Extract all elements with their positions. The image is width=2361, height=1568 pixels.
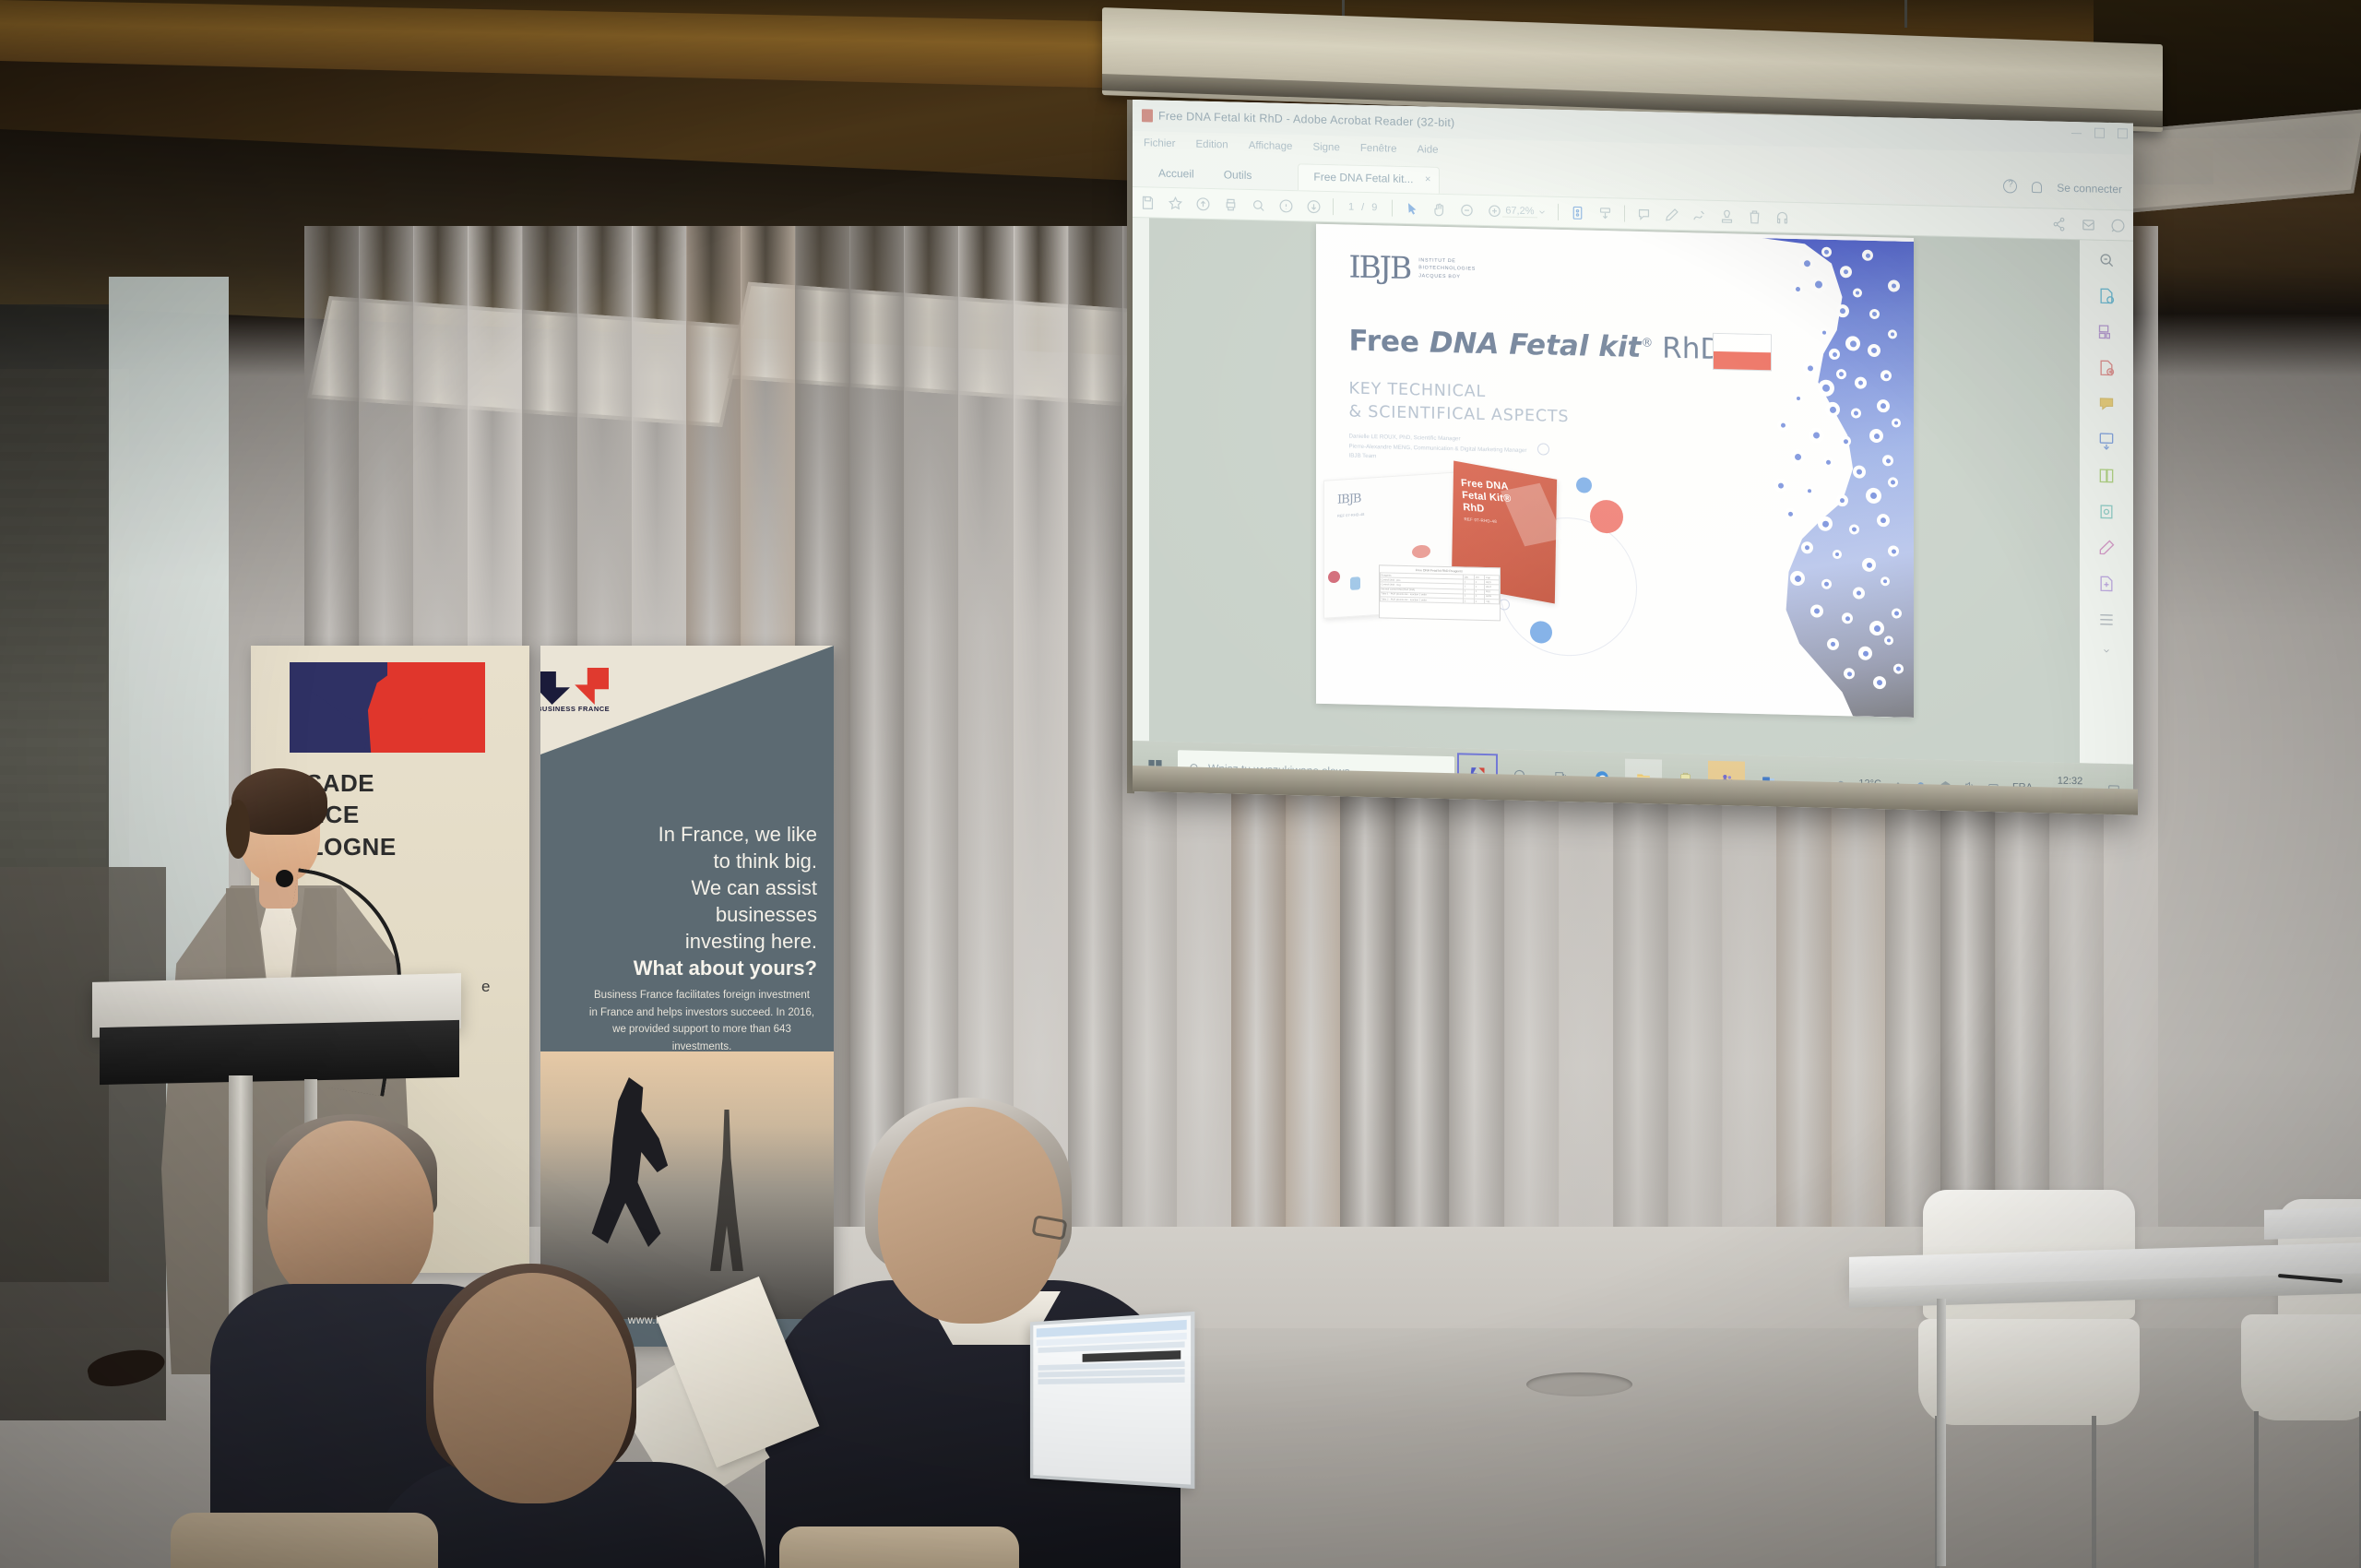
decor-ring bbox=[1537, 443, 1549, 455]
cell-bubble bbox=[1794, 394, 1803, 403]
cell-nucleus bbox=[1840, 308, 1845, 314]
cell-nucleus bbox=[1858, 381, 1863, 386]
business-france-logo bbox=[540, 668, 609, 705]
embassy-banner-small-text: e bbox=[481, 978, 490, 996]
decor-dot-red bbox=[1590, 500, 1623, 534]
body-line-2: in France and helps investors succeed. I… bbox=[587, 1004, 817, 1022]
marianne-logo bbox=[290, 662, 485, 753]
cell-nucleus bbox=[1872, 312, 1877, 316]
logo-arrow-red bbox=[572, 668, 609, 705]
ibjb-logo-mark: IBJB bbox=[1349, 249, 1411, 287]
create-pdf-icon[interactable] bbox=[2097, 358, 2116, 378]
document-viewport: IBJB INSTITUT DE BIOTECHNOLOGIES JACQUES… bbox=[1133, 218, 2133, 765]
cell-nucleus bbox=[1822, 521, 1829, 528]
podium-front-panel bbox=[100, 1020, 459, 1085]
product-box-blue-mark bbox=[1350, 576, 1360, 590]
page-current[interactable]: 1 bbox=[1348, 202, 1354, 213]
cell-bubble bbox=[1790, 449, 1805, 464]
more-tools-icon[interactable] bbox=[2097, 610, 2116, 630]
slide-authors: Danielle LE ROUX, PhD, Scientific Manage… bbox=[1349, 433, 1527, 466]
cell-vol: x bbox=[1474, 599, 1484, 603]
cell-bubble bbox=[1840, 435, 1851, 446]
tab-document[interactable]: Free DNA Fetal kit... × bbox=[1298, 163, 1440, 194]
ibjb-logo-subtitle: INSTITUT DE BIOTECHNOLOGIES JACQUES BOY bbox=[1418, 256, 1476, 280]
zoom-out-icon[interactable] bbox=[1459, 202, 1475, 218]
cell-bubble bbox=[1866, 488, 1881, 504]
cell-nucleus bbox=[1874, 434, 1880, 439]
comment-icon[interactable] bbox=[1636, 206, 1652, 221]
acrobat-reader-window: Free DNA Fetal kit RhD - Adobe Acrobat R… bbox=[1133, 100, 2133, 765]
comment-tool-icon[interactable] bbox=[2097, 394, 2116, 414]
scroll-mode-icon[interactable] bbox=[1597, 205, 1613, 220]
signin-link[interactable]: Se connecter bbox=[2057, 181, 2122, 196]
cell-nucleus bbox=[1845, 616, 1850, 621]
projection-screen: Free DNA Fetal kit RhD - Adobe Acrobat R… bbox=[1133, 100, 2133, 815]
registered-mark: ® bbox=[1641, 337, 1653, 350]
send-file-icon[interactable] bbox=[2081, 217, 2096, 232]
acrobat-app-icon bbox=[1142, 109, 1153, 122]
ibjb-sub-line-3: JACQUES BOY bbox=[1418, 272, 1476, 281]
page-fit-icon[interactable] bbox=[1570, 205, 1585, 220]
save-icon[interactable] bbox=[1140, 195, 1156, 210]
cell-bubble bbox=[1842, 612, 1853, 624]
cell-bubble bbox=[1840, 266, 1852, 278]
cell-bubble bbox=[1888, 477, 1898, 487]
page-scroll-area[interactable]: IBJB INSTITUT DE BIOTECHNOLOGIES JACQUES… bbox=[1149, 218, 2080, 763]
help-icon[interactable] bbox=[2003, 179, 2017, 193]
left-navigation-rail[interactable] bbox=[1133, 218, 1149, 741]
business-france-logo-text: BUSINESS FRANCE bbox=[540, 705, 610, 713]
cell-bubble bbox=[1869, 309, 1880, 319]
headline-bold-question: What about yours? bbox=[634, 956, 817, 980]
cell-nucleus bbox=[1886, 458, 1891, 463]
toolbar-annotate-group bbox=[1636, 206, 1790, 225]
cell-bubble bbox=[1836, 369, 1846, 379]
cell-nucleus bbox=[1857, 590, 1861, 595]
minimize-icon[interactable] bbox=[2071, 127, 2082, 134]
cell-bubble bbox=[1785, 508, 1796, 519]
cell-nucleus bbox=[1808, 489, 1811, 493]
cell-nucleus bbox=[1831, 642, 1835, 647]
acrobat-tools-rail bbox=[2080, 240, 2133, 764]
maximize-icon[interactable] bbox=[2094, 128, 2105, 138]
cell-bubble bbox=[1893, 663, 1904, 673]
toolbar-separator bbox=[1558, 204, 1559, 220]
cell-nucleus bbox=[1896, 667, 1901, 671]
menu-fenetre[interactable]: Fenêtre bbox=[1360, 143, 1397, 155]
slide-subtitle-line-2: & SCIENTIFICAL ASPECTS bbox=[1349, 401, 1570, 430]
cell-nucleus bbox=[1866, 254, 1870, 258]
cell-nucleus bbox=[1850, 340, 1857, 347]
cell-bubble bbox=[1809, 427, 1824, 443]
cell-qty: 1 bbox=[1463, 599, 1474, 603]
blind-slat bbox=[849, 226, 905, 1259]
highlight-icon[interactable] bbox=[1664, 207, 1679, 222]
select-tool-icon[interactable] bbox=[1404, 200, 1419, 216]
cell-nucleus bbox=[1894, 611, 1899, 615]
laptop-ui-row bbox=[1038, 1377, 1184, 1384]
cell-nucleus bbox=[1870, 493, 1877, 499]
reagents-table: Free DNA Fetal kit RhD Reagents Reagents… bbox=[1379, 564, 1501, 621]
reagents-table-grid: Reagents Qty Vol Cap Control DNA - pos bbox=[1380, 572, 1500, 604]
cell-nucleus bbox=[1857, 469, 1862, 474]
delete-icon[interactable] bbox=[1747, 208, 1762, 224]
cell-nucleus bbox=[1856, 291, 1859, 294]
page-total: 9 bbox=[1371, 202, 1377, 213]
cell-nucleus bbox=[1781, 423, 1786, 428]
upload-icon[interactable] bbox=[1195, 196, 1211, 211]
cell-bubble bbox=[1801, 541, 1813, 553]
cell-nucleus bbox=[1844, 439, 1848, 444]
cell-nucleus bbox=[1808, 365, 1813, 371]
silhouette-shape bbox=[1655, 235, 1914, 718]
cell-nucleus bbox=[1796, 287, 1800, 291]
menu-fichier[interactable]: Fichier bbox=[1144, 137, 1176, 149]
blind-slat bbox=[1014, 226, 1069, 1259]
add-comment-icon[interactable] bbox=[2110, 217, 2126, 232]
banner-headline: In France, we like to think big. We can … bbox=[596, 821, 817, 981]
product-box-red-dot bbox=[1328, 571, 1340, 584]
toolbar-separator bbox=[1333, 198, 1334, 215]
cell-bubble bbox=[1849, 524, 1859, 534]
cell-bubble bbox=[1829, 349, 1840, 360]
cell-bubble bbox=[1810, 276, 1827, 292]
chair-seat bbox=[2241, 1314, 2361, 1420]
cell-bubble bbox=[1888, 279, 1900, 291]
cell-bubble bbox=[1869, 621, 1884, 636]
cell-nucleus bbox=[1804, 260, 1810, 267]
export-pdf-icon[interactable] bbox=[2097, 286, 2116, 306]
microphone-head bbox=[276, 870, 293, 887]
protect-icon[interactable] bbox=[2097, 502, 2116, 522]
cell-nucleus bbox=[1826, 460, 1831, 465]
signature-icon[interactable] bbox=[1691, 208, 1707, 223]
cell-nucleus bbox=[1871, 348, 1877, 353]
stamp-icon[interactable] bbox=[1719, 208, 1735, 223]
cell-bubble bbox=[1845, 336, 1860, 350]
tab-accueil[interactable]: Accueil bbox=[1144, 160, 1209, 188]
door-frame bbox=[0, 867, 166, 1420]
cell-bubble bbox=[1882, 455, 1893, 466]
zoom-level[interactable]: 67,2% bbox=[1502, 205, 1536, 218]
cell-reagent: Tube 2 - PCR premix mix - reaction 2 ord… bbox=[1380, 597, 1463, 603]
menu-signe[interactable]: Signe bbox=[1312, 142, 1339, 154]
cell-bubble bbox=[1792, 283, 1803, 294]
cell-nucleus bbox=[1795, 576, 1801, 582]
cell-bubble bbox=[1853, 465, 1866, 478]
cell-nucleus bbox=[1884, 374, 1889, 378]
headline-line-3: We can assist businesses bbox=[596, 874, 817, 928]
product-box-pink-dot bbox=[1412, 544, 1430, 558]
attendee-1-head bbox=[267, 1121, 433, 1310]
page-separator: / bbox=[1361, 202, 1364, 213]
slide-title-italic: DNA Fetal kit bbox=[1430, 327, 1641, 364]
product-box-photo: IBJB REF 07-RHD-48 bbox=[1323, 464, 1554, 626]
cell-bubble bbox=[1799, 255, 1814, 270]
headline-line-1: In France, we like bbox=[596, 821, 817, 848]
cell-bubble bbox=[1862, 558, 1876, 572]
tab-outils[interactable]: Outils bbox=[1209, 162, 1267, 189]
print-icon[interactable] bbox=[1223, 196, 1239, 212]
product-box-small-text: REF 07-RHD-48 bbox=[1337, 512, 1364, 519]
decor-dot-blue bbox=[1576, 477, 1592, 493]
cell-nucleus bbox=[1891, 332, 1894, 336]
fill-and-sign-icon[interactable] bbox=[2097, 430, 2116, 450]
notifications-bell-icon[interactable] bbox=[2032, 181, 2042, 192]
cell-nucleus bbox=[1894, 421, 1898, 424]
star-icon[interactable] bbox=[1168, 195, 1183, 210]
cell-nucleus bbox=[1795, 454, 1801, 460]
organize-pages-icon[interactable] bbox=[2097, 322, 2116, 342]
share-icon[interactable] bbox=[2051, 216, 2067, 232]
cell-bubble bbox=[1892, 608, 1902, 618]
cell-nucleus bbox=[1797, 397, 1800, 400]
slide-content: IBJB INSTITUT DE BIOTECHNOLOGIES JACQUES… bbox=[1316, 224, 1914, 718]
business-france-banner: BUSINESS FRANCE In France, we like to th… bbox=[540, 646, 834, 1347]
cell-nucleus bbox=[1833, 352, 1837, 357]
cell-bubble bbox=[1855, 376, 1867, 388]
hand-tool-icon[interactable] bbox=[1431, 201, 1447, 217]
cell-nucleus bbox=[1892, 283, 1896, 288]
cell-nucleus bbox=[1813, 432, 1820, 438]
blind-slat bbox=[1068, 226, 1123, 1259]
slide-subtitle: KEY TECHNICAL & SCIENTIFICAL ASPECTS bbox=[1349, 378, 1570, 430]
wooden-chair-center bbox=[779, 1526, 1019, 1568]
headline-line-4: investing here. bbox=[596, 928, 817, 955]
cell-nucleus bbox=[1778, 482, 1784, 488]
menu-affichage[interactable]: Affichage bbox=[1249, 140, 1293, 152]
window-title: Free DNA Fetal kit RhD - Adobe Acrobat R… bbox=[1158, 110, 1454, 130]
body-line-1: Business France facilitates foreign inve… bbox=[587, 987, 817, 1004]
marianne-red-half bbox=[387, 662, 485, 753]
toolbar-file-group bbox=[1140, 195, 1322, 215]
cell-bubble bbox=[1821, 579, 1832, 589]
toolbar-view-group bbox=[1570, 205, 1613, 221]
cell-bubble bbox=[1892, 418, 1901, 427]
cell-nucleus bbox=[1892, 549, 1896, 553]
cell-nucleus bbox=[1867, 563, 1872, 568]
cell-bubble bbox=[1853, 288, 1862, 297]
edit-pdf-icon[interactable] bbox=[2097, 538, 2116, 558]
search-tool-icon[interactable] bbox=[2097, 250, 2116, 270]
cell-bubble bbox=[1869, 429, 1883, 443]
cell-nucleus bbox=[1835, 552, 1839, 556]
product-name-ref: REF 07-RHD-48 bbox=[1464, 517, 1513, 525]
cell-nucleus bbox=[1788, 512, 1793, 517]
cell-bubble bbox=[1880, 370, 1892, 381]
cell-nucleus bbox=[1840, 498, 1845, 503]
cell-bubble bbox=[1880, 576, 1890, 586]
product-box-logo: IBJB bbox=[1337, 492, 1360, 507]
cell-bubble bbox=[1851, 408, 1861, 418]
cell-nucleus bbox=[1874, 625, 1880, 632]
cell-bubble bbox=[1862, 250, 1873, 261]
cell-bubble bbox=[1877, 399, 1890, 412]
cell-nucleus bbox=[1830, 407, 1836, 413]
cell-bubble bbox=[1884, 636, 1893, 645]
cell-nucleus bbox=[1844, 269, 1848, 274]
pdf-page-1: IBJB INSTITUT DE BIOTECHNOLOGIES JACQUES… bbox=[1316, 224, 1914, 718]
menu-aide[interactable]: Aide bbox=[1418, 144, 1439, 156]
cell-bubble bbox=[1833, 550, 1842, 559]
body-line-3: we provided support to more than 643 inv… bbox=[587, 1021, 817, 1055]
cell-nucleus bbox=[1847, 671, 1852, 676]
cell-bubble bbox=[1818, 379, 1834, 396]
cell-bubble bbox=[1820, 328, 1828, 337]
laptop-screen bbox=[1033, 1315, 1191, 1484]
cell-nucleus bbox=[1883, 579, 1887, 583]
cell-nucleus bbox=[1822, 385, 1830, 392]
product-box-name: Free DNA Fetal Kit® RhD REF 07-RHD-48 bbox=[1460, 478, 1513, 526]
cell-cap: YEL bbox=[1485, 599, 1499, 604]
zoom-in-icon[interactable] bbox=[1487, 203, 1502, 219]
laptop-ui-dark-row bbox=[1083, 1350, 1181, 1362]
toolbar-separator bbox=[1624, 206, 1625, 222]
running-businessman-silhouette bbox=[583, 1077, 671, 1247]
cell-bubble bbox=[1844, 668, 1855, 679]
product-box-ref: REF 07-RHD-48 bbox=[1337, 512, 1364, 519]
ibjb-logo: IBJB INSTITUT DE BIOTECHNOLOGIES JACQUES… bbox=[1349, 249, 1476, 288]
cell-nucleus bbox=[1891, 480, 1895, 484]
search-icon[interactable] bbox=[1251, 197, 1266, 213]
cell-nucleus bbox=[1814, 608, 1820, 613]
attendee-2-head bbox=[433, 1273, 632, 1503]
chair-leg bbox=[2254, 1411, 2259, 1568]
cell-bubble bbox=[1774, 478, 1787, 492]
cell-nucleus bbox=[1887, 638, 1891, 642]
cell-nucleus bbox=[1805, 545, 1809, 550]
menu-edition[interactable]: Edition bbox=[1196, 139, 1228, 151]
toolbar-right-group bbox=[2051, 216, 2126, 233]
eiffel-tower-silhouette bbox=[697, 1110, 756, 1271]
cell-bubble bbox=[1803, 361, 1817, 374]
toolbar-nav-group bbox=[1404, 200, 1502, 219]
cell-nucleus bbox=[1822, 331, 1826, 335]
slide-title-part-1: Free bbox=[1349, 325, 1430, 360]
cell-bubble bbox=[1823, 457, 1833, 468]
read-aloud-icon[interactable] bbox=[1774, 209, 1790, 225]
cell-nucleus bbox=[1815, 280, 1822, 288]
cell-nucleus bbox=[1852, 527, 1857, 531]
cell-nucleus bbox=[1877, 680, 1882, 685]
speaker-hair-side bbox=[226, 800, 250, 859]
cell-bubble bbox=[1858, 647, 1872, 660]
headline-line-2: to think big. bbox=[596, 848, 817, 874]
conference-table-secondary bbox=[2264, 1206, 2361, 1240]
cell-bubble bbox=[1827, 638, 1839, 650]
cell-bubble bbox=[1825, 402, 1840, 417]
wooden-chair-left bbox=[171, 1513, 438, 1568]
cell-bubble bbox=[1821, 247, 1832, 257]
pregnant-woman-silhouette-graphic bbox=[1655, 235, 1914, 718]
cell-bubble bbox=[1777, 419, 1789, 431]
chair-leg bbox=[2092, 1416, 2096, 1568]
close-icon[interactable] bbox=[2118, 128, 2128, 138]
cell-nucleus bbox=[1854, 410, 1858, 415]
collapse-panel-icon[interactable] bbox=[2097, 646, 2116, 657]
cell-bubble bbox=[1810, 604, 1823, 617]
cell-bubble bbox=[1790, 571, 1805, 586]
cell-bubble bbox=[1805, 486, 1814, 495]
floor-vent bbox=[1526, 1372, 1632, 1396]
attendee-3-head bbox=[878, 1107, 1062, 1324]
chair-seat bbox=[1918, 1319, 2140, 1425]
cell-bubble bbox=[1818, 516, 1833, 530]
conference-room-scene: Free DNA Fetal kit RhD - Adobe Acrobat R… bbox=[0, 0, 2361, 1568]
tab-bar-right-controls: Se connecter bbox=[2003, 179, 2122, 196]
help-circle-icon[interactable] bbox=[1278, 197, 1294, 213]
cell-bubble bbox=[1868, 344, 1880, 357]
cell-nucleus bbox=[1880, 403, 1886, 409]
close-tab-icon[interactable]: × bbox=[1425, 173, 1430, 184]
logo-arrow-navy bbox=[540, 671, 570, 705]
download-icon[interactable] bbox=[1306, 198, 1322, 214]
cell-bubble bbox=[1836, 494, 1848, 506]
window-controls[interactable] bbox=[2071, 127, 2128, 138]
screen-cord bbox=[1904, 0, 1907, 28]
cell-nucleus bbox=[1863, 651, 1869, 657]
windows-desktop: Free DNA Fetal kit RhD - Adobe Acrobat R… bbox=[1133, 100, 2133, 815]
cell-bubble bbox=[1836, 304, 1849, 317]
chevron-down-icon[interactable] bbox=[1537, 204, 1547, 220]
cell-nucleus bbox=[1824, 582, 1829, 587]
cell-bubble bbox=[1888, 545, 1899, 556]
toolbar-separator bbox=[1392, 200, 1393, 217]
cell-nucleus bbox=[1839, 372, 1844, 376]
tab-document-label: Free DNA Fetal kit... bbox=[1313, 171, 1413, 186]
cell-bubble bbox=[1853, 587, 1865, 599]
cell-bubble bbox=[1888, 329, 1897, 339]
cell-bubble bbox=[1877, 514, 1890, 527]
table-leg bbox=[1937, 1299, 1946, 1566]
cell-nucleus bbox=[1824, 250, 1829, 255]
compress-pdf-icon[interactable] bbox=[2097, 574, 2116, 594]
combine-files-icon[interactable] bbox=[2097, 466, 2116, 486]
cell-nucleus bbox=[1880, 517, 1886, 523]
cell-bubble bbox=[1873, 676, 1886, 689]
attendee-laptop[interactable] bbox=[1030, 1312, 1195, 1489]
